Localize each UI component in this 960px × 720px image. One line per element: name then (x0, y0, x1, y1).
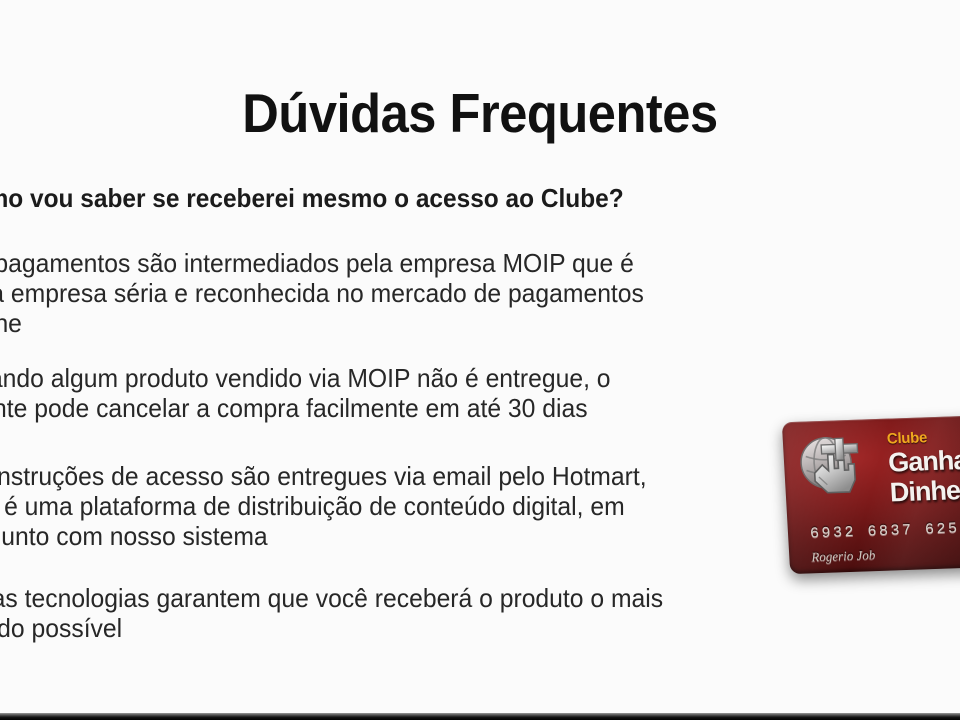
paragraph-line: uma empresa séria e reconhecida no merca… (0, 278, 906, 308)
paragraph-line: rápido possível (0, 613, 906, 643)
card-brand-block: Clube Ganhar Dinheiro (886, 428, 960, 506)
body-paragraph: Quando algum produto vendido via MOIP nã… (0, 363, 906, 423)
paragraph-line: que é uma plataforma de distribuição de … (0, 491, 906, 521)
paragraph-line: online (0, 308, 906, 338)
paragraph-line: Estas tecnologias garantem que você rece… (0, 583, 906, 613)
paragraph-line: As instruções de acesso são entregues vi… (0, 461, 906, 491)
body-paragraph: Os pagamentos são intermediados pela emp… (0, 248, 906, 338)
pointing-hand-cursor-icon (790, 427, 876, 510)
brand-line-mid: Ganhar (887, 446, 960, 477)
body-paragraph: Estas tecnologias garantem que você rece… (0, 583, 906, 643)
credit-card: Clube Ganhar Dinheiro 6932 6837 625 Roge… (782, 414, 960, 574)
paragraph-line: Os pagamentos são intermediados pela emp… (0, 248, 906, 278)
body-paragraph: As instruções de acesso são entregues vi… (0, 461, 906, 551)
brand-line-bottom: Dinheiro (889, 476, 960, 507)
page-title: Dúvidas Frequentes (38, 84, 921, 142)
credit-card-graphic: Clube Ganhar Dinheiro 6932 6837 625 Roge… (786, 418, 960, 648)
video-player-bar[interactable] (0, 713, 960, 720)
card-number: 6932 6837 625 (810, 520, 960, 542)
video-slide-frame: Dúvidas Frequentes Como vou saber se rec… (0, 0, 960, 720)
brand-line-top: Clube (886, 428, 960, 447)
paragraph-line: conjunto com nosso sistema (0, 521, 906, 551)
slide-question: Como vou saber se receberei mesmo o aces… (0, 182, 894, 214)
paragraph-line: cliente pode cancelar a compra facilment… (0, 393, 906, 423)
paragraph-line: Quando algum produto vendido via MOIP nã… (0, 363, 906, 393)
card-holder-name: Rogerio Job (811, 547, 876, 565)
